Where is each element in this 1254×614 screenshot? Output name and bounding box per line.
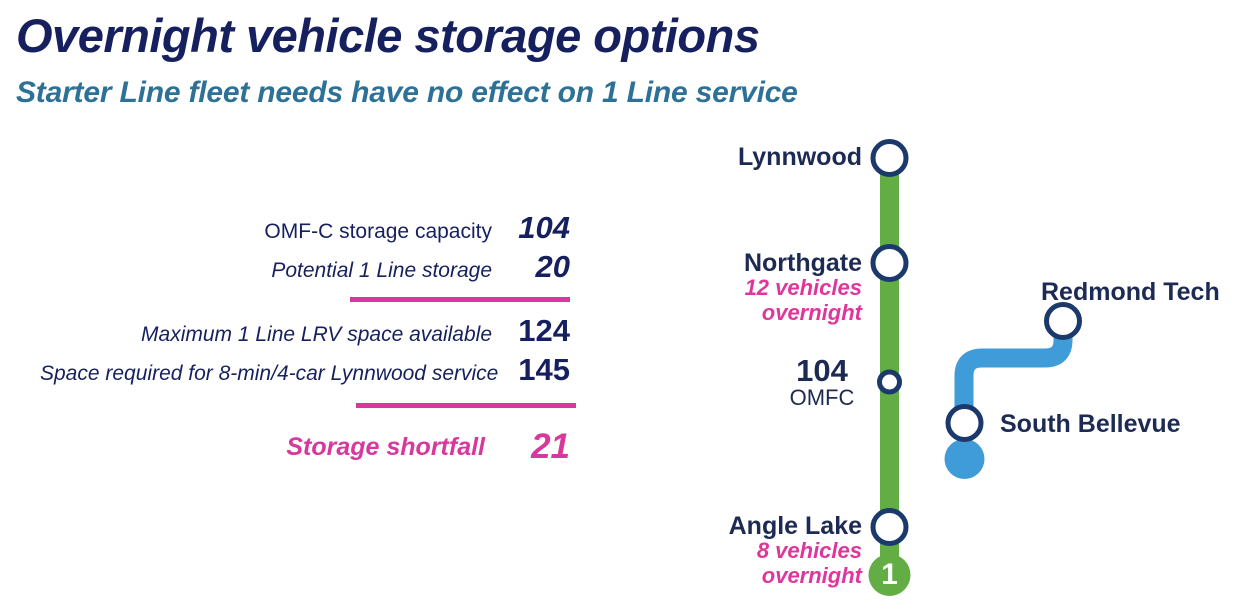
station-marker-south-bellevue[interactable] — [948, 407, 981, 440]
divider-rule-top — [350, 297, 570, 302]
calc-row: Potential 1 Line storage 20 — [40, 249, 570, 288]
page-subtitle: Starter Line fleet needs have no effect … — [16, 76, 798, 110]
line-1-badge-label: 1 — [869, 558, 910, 592]
shortfall-value: 21 — [485, 427, 570, 467]
station-label-redmond-tech: Redmond Tech — [1041, 278, 1220, 307]
station-marker-omfc[interactable] — [880, 372, 900, 392]
page-title: Overnight vehicle storage options — [16, 8, 760, 63]
calc-label: Space required for 8-min/4-car Lynnwood … — [40, 362, 498, 386]
station-note-northgate: 12 vehicles overnight — [744, 276, 862, 325]
calc-label: OMF-C storage capacity — [264, 220, 492, 244]
calc-row-shortfall: Storage shortfall 21 — [40, 420, 570, 474]
station-marker-northgate[interactable] — [873, 247, 906, 280]
station-label-northgate: Northgate 12 vehicles overnight — [744, 250, 862, 326]
calc-value: 145 — [498, 352, 570, 388]
station-label-lynnwood: Lynnwood — [738, 144, 862, 170]
station-name-angle-lake: Angle Lake — [729, 512, 862, 540]
station-label-south-bellevue: South Bellevue — [1000, 410, 1181, 439]
omfc-count: 104 — [762, 355, 882, 387]
omfc-capacity-callout: 104 OMFC — [762, 355, 882, 410]
calc-label: Potential 1 Line storage — [271, 259, 492, 283]
station-note-line-1: 12 vehicles — [745, 275, 862, 300]
station-note-line-2: overnight — [762, 300, 862, 325]
station-note-line-1: 8 vehicles — [757, 538, 862, 563]
calc-value: 124 — [492, 313, 570, 349]
station-note-line-2: overnight — [762, 563, 862, 588]
station-marker-angle-lake[interactable] — [873, 511, 906, 544]
calc-label: Maximum 1 Line LRV space available — [141, 323, 492, 347]
omfc-label: OMFC — [762, 387, 882, 410]
station-marker-lynnwood[interactable] — [873, 142, 906, 175]
station-marker-redmond-tech[interactable] — [1047, 305, 1080, 338]
divider-rule-bottom — [356, 403, 576, 408]
station-name-northgate: Northgate — [744, 249, 862, 277]
storage-calculation: OMF-C storage capacity 104 Potential 1 L… — [40, 210, 570, 474]
slide-canvas: Overnight vehicle storage options Starte… — [0, 0, 1254, 614]
station-note-angle-lake: 8 vehicles overnight — [729, 539, 862, 588]
station-label-angle-lake: Angle Lake 8 vehicles overnight — [729, 513, 862, 589]
calc-row: Space required for 8-min/4-car Lynnwood … — [40, 352, 570, 391]
transit-diagram: 1 2 Lynnwood Northgate 12 vehicles overn… — [700, 130, 1254, 614]
calc-row: OMF-C storage capacity 104 — [40, 210, 570, 249]
line-2-badge-label: 2 — [945, 573, 985, 607]
calc-row: Maximum 1 Line LRV space available 124 — [40, 313, 570, 352]
calc-value: 20 — [492, 249, 570, 285]
calc-value: 104 — [492, 210, 570, 246]
shortfall-label: Storage shortfall — [286, 433, 485, 462]
line-2-badge-circle — [945, 439, 985, 479]
